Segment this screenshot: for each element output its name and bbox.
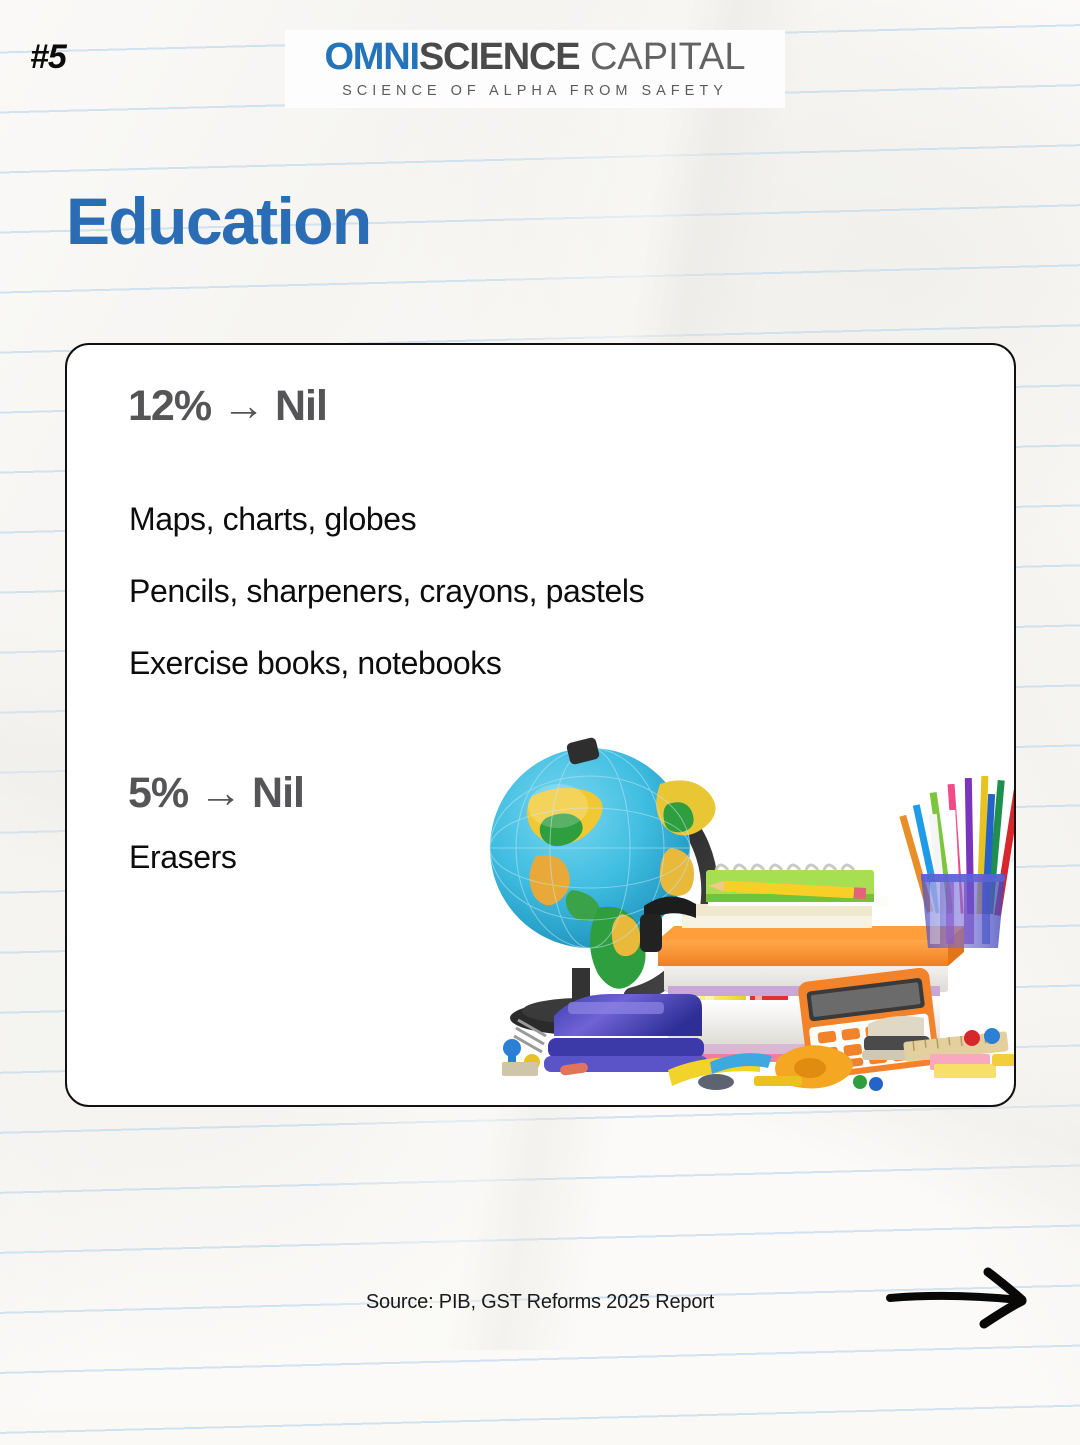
list-item: Pencils, sharpeners, crayons, pastels [129, 573, 644, 610]
page-title: Education [66, 183, 371, 259]
logo-science-text: SCIENCE [419, 36, 580, 78]
sticky-notes-icon [930, 1054, 996, 1078]
arrow-right-icon[interactable] [884, 1264, 1044, 1334]
rate-change-12-percent: 12% → Nil [128, 382, 327, 431]
list-item: Erasers [129, 839, 236, 876]
stapler-icon [544, 994, 708, 1072]
brand-logo-wordmark: OMNISCIENCE CAPITAL [324, 38, 745, 76]
content-card: 12% → Nil Maps, charts, globes Pencils, … [65, 343, 1016, 1107]
brand-logo: OMNISCIENCE CAPITAL SCIENCE OF ALPHA FRO… [285, 30, 785, 108]
list-item: Maps, charts, globes [129, 501, 416, 538]
logo-omni-text: OMNI [324, 36, 418, 78]
brand-logo-tagline: SCIENCE OF ALPHA FROM SAFETY [342, 83, 728, 99]
pencil-cup-icon [899, 776, 1016, 948]
logo-capital-text: CAPITAL [579, 36, 745, 78]
rate-change-5-percent: 5% → Nil [128, 769, 304, 818]
list-item: Exercise books, notebooks [129, 645, 501, 682]
school-supplies-illustration [472, 718, 1016, 1098]
slide-number-badge: #5 [30, 38, 66, 77]
